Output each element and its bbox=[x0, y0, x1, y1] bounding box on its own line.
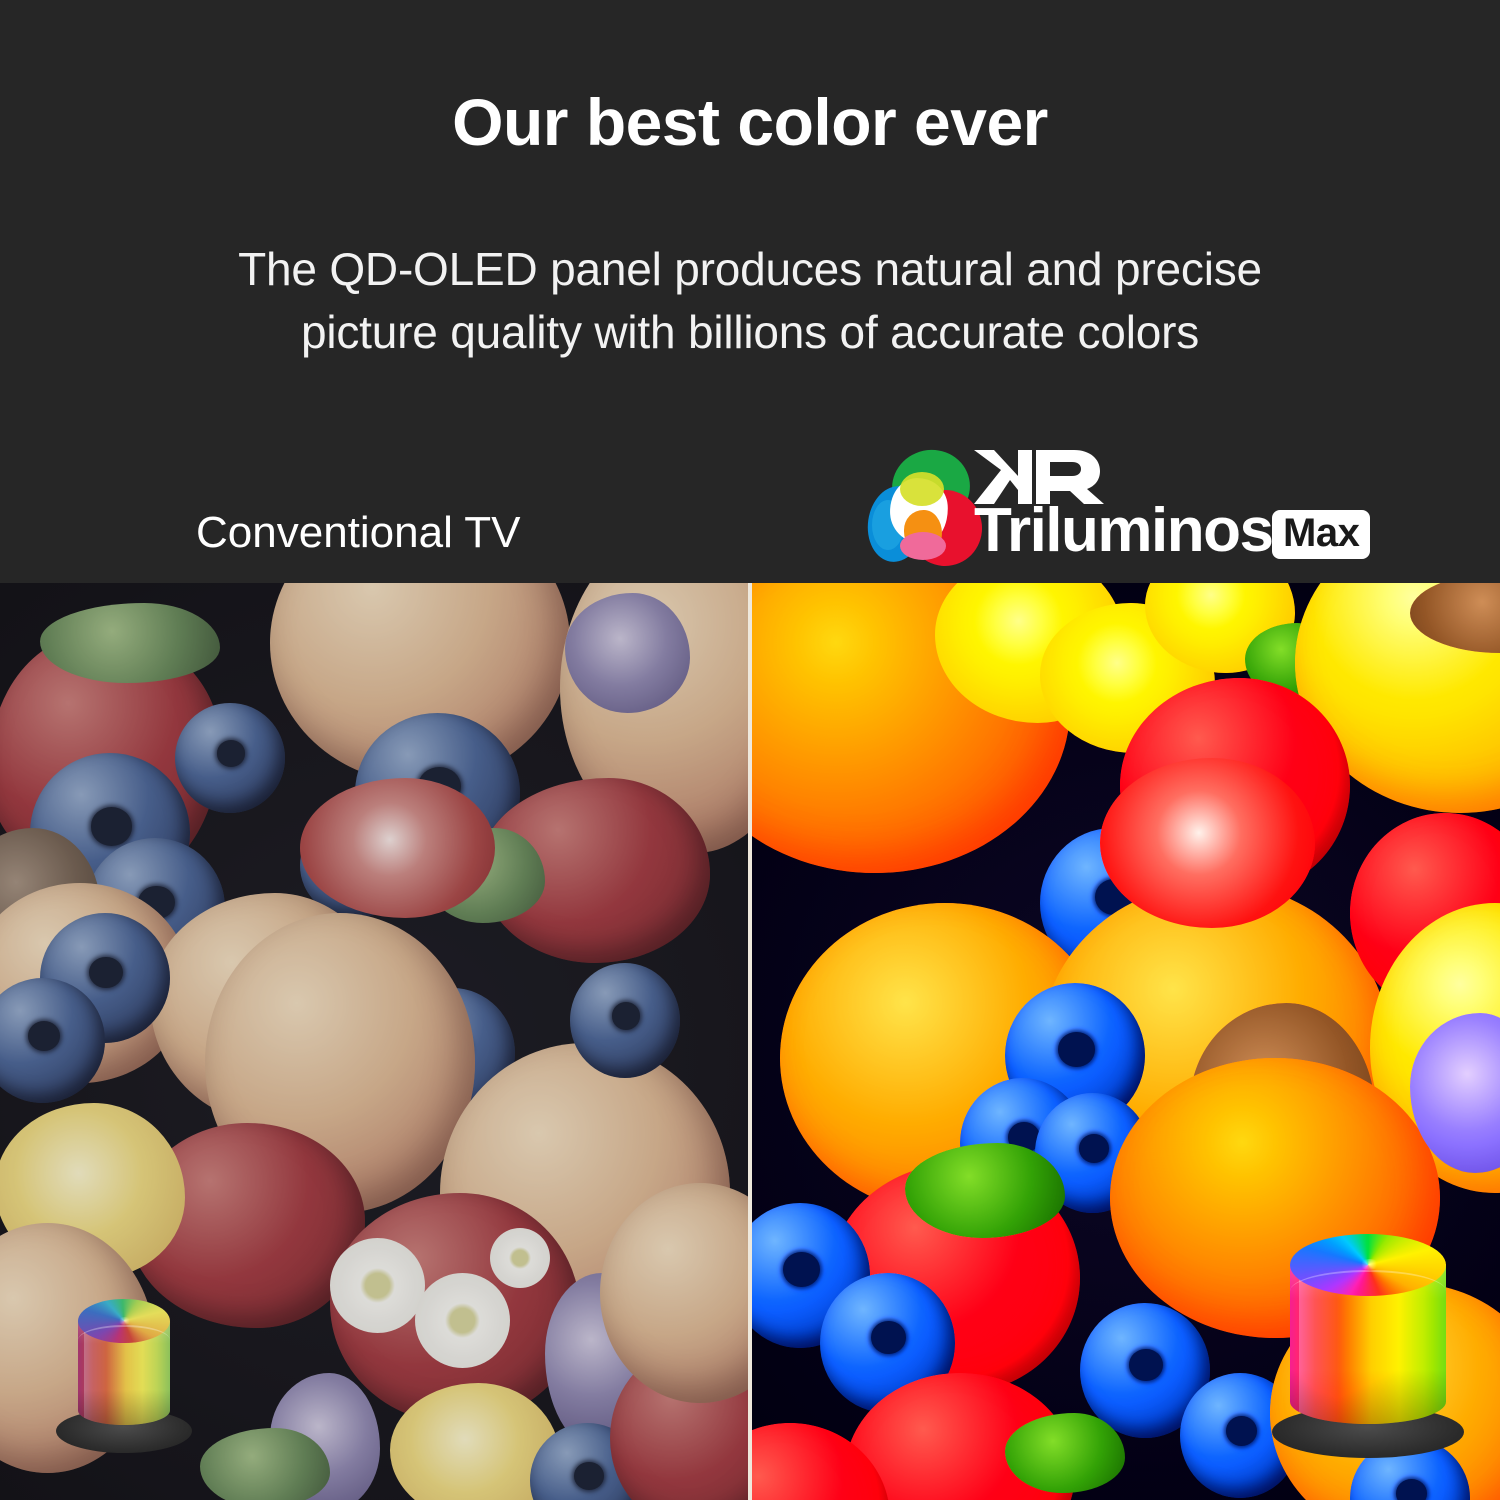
page-subtitle: The QD-OLED panel produces natural and p… bbox=[0, 238, 1500, 365]
comparison-divider bbox=[748, 583, 752, 1500]
max-badge: Max bbox=[1272, 510, 1370, 559]
blob-yellow-icon bbox=[900, 472, 944, 506]
page-title: Our best color ever bbox=[0, 86, 1500, 159]
promo-banner: Our best color ever The QD-OLED panel pr… bbox=[0, 0, 1500, 1500]
triluminos-color-blobs-icon bbox=[866, 448, 982, 566]
triluminos-wordmark: Triluminos bbox=[974, 500, 1272, 562]
subtitle-line-1: The QD-OLED panel produces natural and p… bbox=[0, 238, 1500, 301]
color-volume-cylinder-conventional bbox=[56, 1285, 192, 1453]
blob-pink-icon bbox=[900, 532, 946, 560]
subtitle-line-2: picture quality with billions of accurat… bbox=[0, 301, 1500, 364]
cylinder-rim-right bbox=[1290, 1270, 1446, 1312]
xr-triluminos-logo: Triluminos Max bbox=[866, 448, 1386, 568]
header-panel: Our best color ever The QD-OLED panel pr… bbox=[0, 0, 1500, 583]
cylinder-rim-left bbox=[78, 1325, 170, 1355]
color-volume-cylinder-xr bbox=[1272, 1218, 1464, 1458]
conventional-tv-label: Conventional TV bbox=[196, 508, 521, 558]
